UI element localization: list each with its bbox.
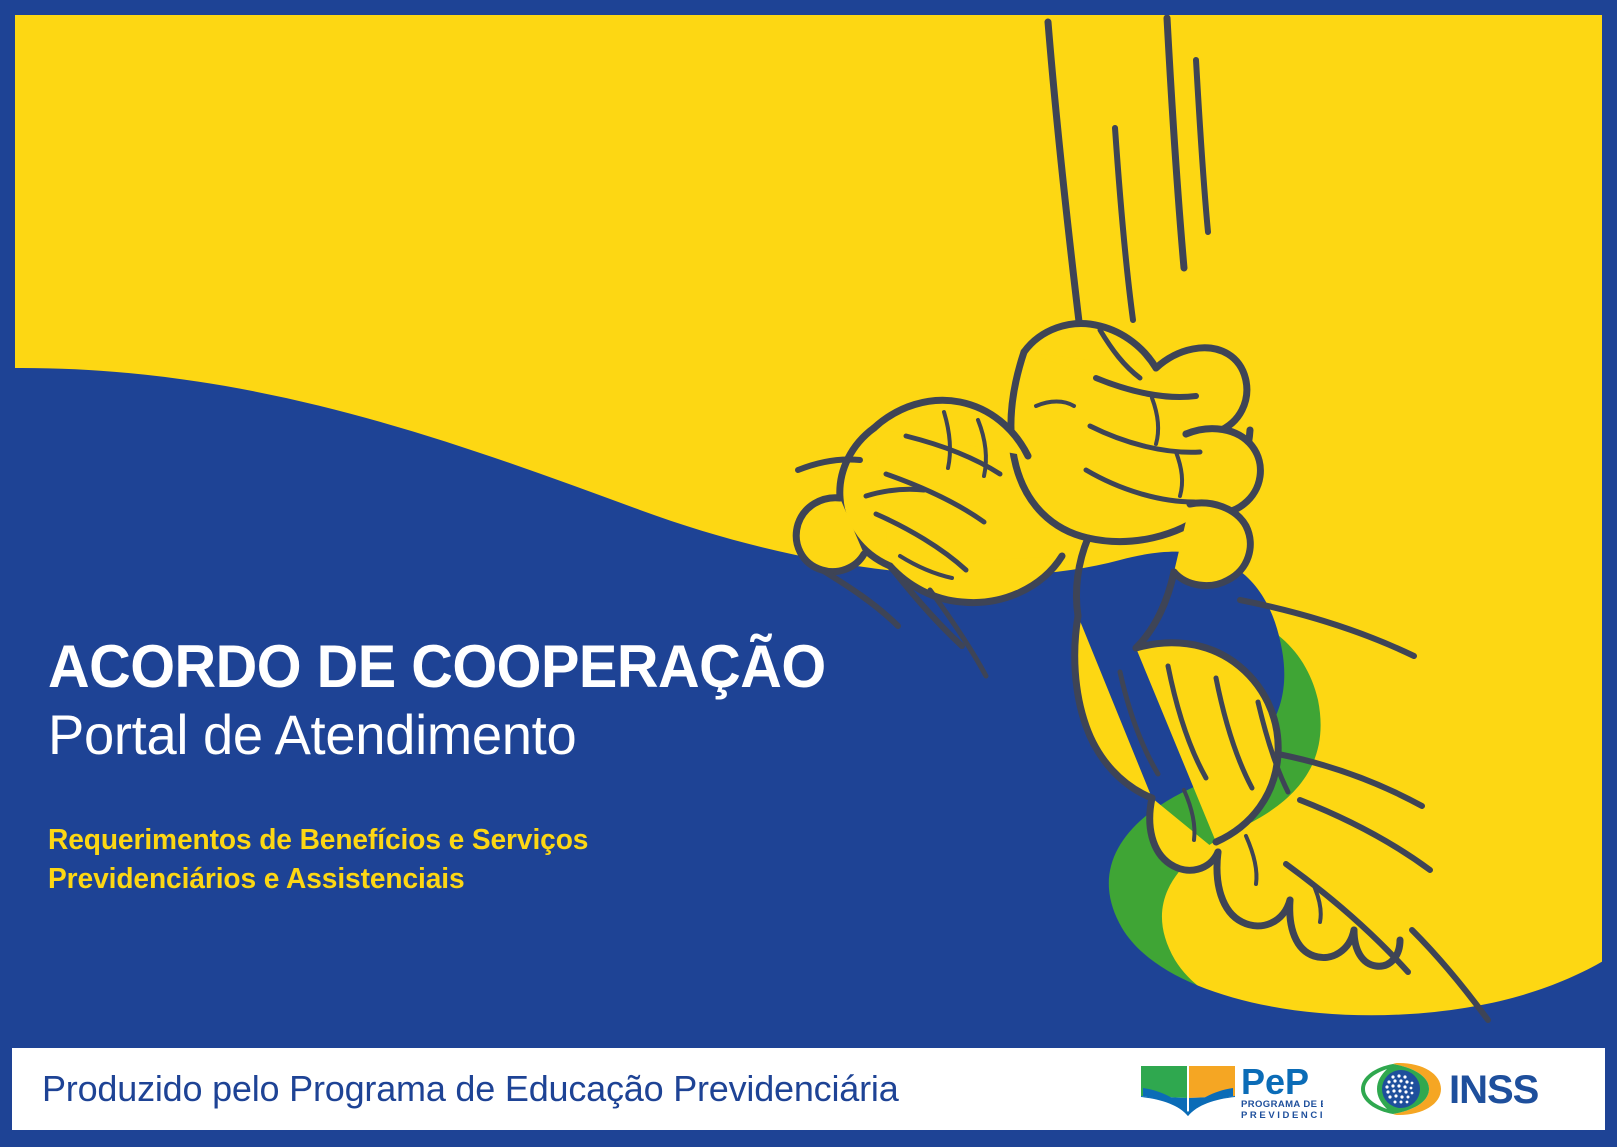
footer-bar: Produzido pelo Programa de Educação Prev… [12, 1048, 1605, 1130]
page-subtitle: Portal de Atendimento [48, 704, 999, 767]
pep-wordmark: PeP [1241, 1061, 1309, 1102]
inss-globe-icon [1357, 1063, 1441, 1115]
footer-logo-group: PeP PROGRAMA DE EDUCAÇÃO PREVIDENCIÁRIA [1137, 1058, 1605, 1120]
inss-wordmark: INSS [1449, 1068, 1539, 1112]
poster-artwork [0, 0, 1617, 1147]
description-line-2: Previdenciários e Assistenciais [48, 860, 999, 899]
page-description: Requerimentos de Benefícios e Serviços P… [48, 821, 1028, 898]
pep-tagline-line-1: PROGRAMA DE EDUCAÇÃO [1241, 1099, 1323, 1110]
description-line-1: Requerimentos de Benefícios e Serviços [48, 821, 999, 860]
pep-tagline-line-2: PREVIDENCIÁRIA [1241, 1110, 1323, 1120]
poster-root: ACORDO DE COOPERAÇÃO Portal de Atendimen… [0, 0, 1617, 1147]
pep-logo: PeP PROGRAMA DE EDUCAÇÃO PREVIDENCIÁRIA [1137, 1058, 1323, 1120]
inss-logo: INSS [1357, 1059, 1557, 1119]
footer-produced-by: Produzido pelo Programa de Educação Prev… [42, 1068, 899, 1110]
pep-book-icon [1141, 1066, 1235, 1116]
page-title: ACORDO DE COOPERAÇÃO [48, 636, 989, 698]
poster-text-block: ACORDO DE COOPERAÇÃO Portal de Atendimen… [48, 636, 1028, 898]
